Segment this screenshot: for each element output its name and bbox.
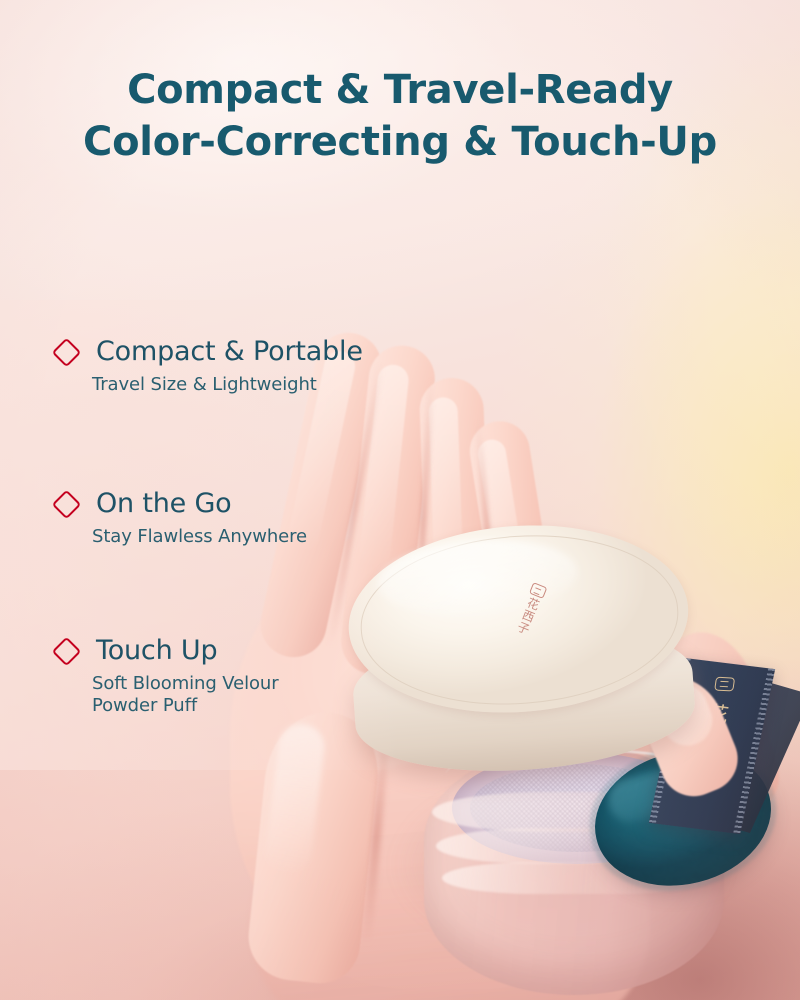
feature-heading-row: Compact & Portable <box>56 337 363 367</box>
feature-title: Compact & Portable <box>96 337 363 367</box>
feature-subtitle: Travel Size & Lightweight <box>92 374 363 396</box>
lid-brand-text: 花西子 <box>514 595 541 636</box>
feature-heading-row: Touch Up <box>56 636 279 666</box>
feature-subtitle-line: Soft Blooming Velour <box>92 673 279 695</box>
feature-heading-row: On the Go <box>56 489 307 519</box>
headline-line-1: Compact & Travel-Ready <box>0 64 800 116</box>
feature-item-compact-portable: Compact & Portable Travel Size & Lightwe… <box>56 337 363 396</box>
brand-emblem-icon <box>714 677 735 692</box>
diamond-outline-icon <box>52 489 82 519</box>
feature-item-touch-up: Touch Up Soft Blooming Velour Powder Puf… <box>56 636 279 717</box>
feature-subtitle-line: Stay Flawless Anywhere <box>92 526 307 548</box>
diamond-outline-icon <box>52 337 82 367</box>
feature-subtitle: Stay Flawless Anywhere <box>92 526 307 548</box>
diamond-outline-icon <box>52 636 82 666</box>
promo-banner: 花 西 子 花西子 Compact & Travel-Ready Color-C… <box>0 0 800 1000</box>
feature-item-on-the-go: On the Go Stay Flawless Anywhere <box>56 489 307 548</box>
headline-line-2: Color-Correcting & Touch-Up <box>0 116 800 168</box>
feature-subtitle: Soft Blooming Velour Powder Puff <box>92 673 279 717</box>
compact-lid: 花西子 <box>320 507 720 833</box>
feature-subtitle-line: Travel Size & Lightweight <box>92 374 363 396</box>
feature-title: Touch Up <box>96 636 217 666</box>
feature-title: On the Go <box>96 489 231 519</box>
page-title: Compact & Travel-Ready Color-Correcting … <box>0 64 800 168</box>
feature-subtitle-line: Powder Puff <box>92 695 279 717</box>
